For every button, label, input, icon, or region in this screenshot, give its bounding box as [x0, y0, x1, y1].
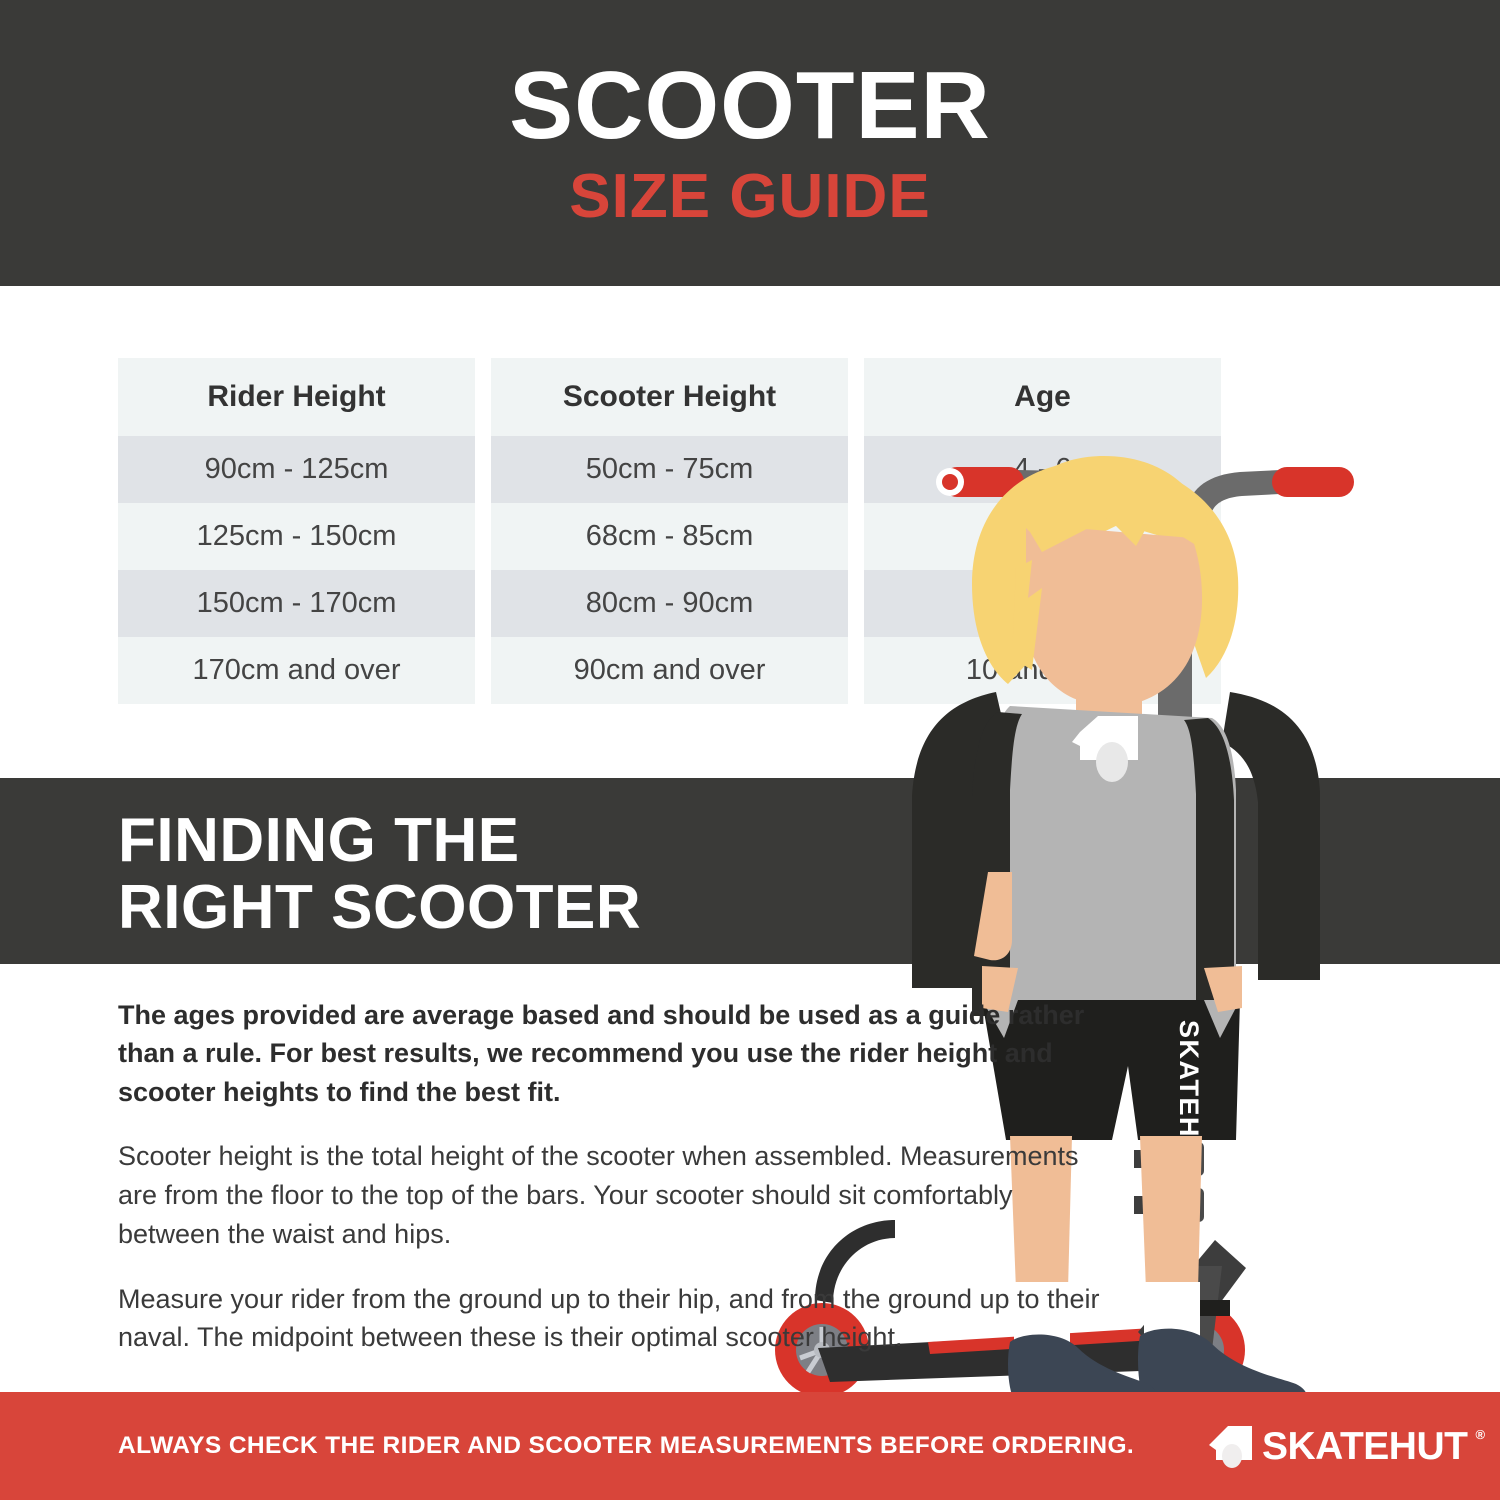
logo-wordmark: SKATEHUT	[1262, 1427, 1467, 1466]
hut-icon	[1208, 1424, 1254, 1468]
footer-band: ALWAYS CHECK THE RIDER AND SCOOTER MEASU…	[0, 1392, 1500, 1500]
table-cell: 90cm - 125cm	[118, 436, 475, 503]
header-band: SCOOTER SIZE GUIDE	[0, 0, 1500, 286]
paragraph-height: Scooter height is the total height of th…	[118, 1137, 1118, 1254]
rider-right-leg	[1140, 1136, 1202, 1290]
table-cell: 170cm and over	[118, 637, 475, 704]
paragraph-intro: The ages provided are average based and …	[118, 996, 1118, 1111]
body-copy: The ages provided are average based and …	[118, 996, 1118, 1357]
scooter-grip-right	[1272, 467, 1354, 497]
scooter-bar-end-inner	[942, 474, 958, 490]
table-cell: 150cm - 170cm	[118, 570, 475, 637]
table-column-rider-height: Rider Height 90cm - 125cm 125cm - 150cm …	[118, 358, 475, 708]
page-subtitle: SIZE GUIDE	[569, 166, 930, 228]
rider-jacket-right-sleeve	[1222, 692, 1320, 980]
paragraph-measure: Measure your rider from the ground up to…	[118, 1280, 1118, 1358]
table-cell: 125cm - 150cm	[118, 503, 475, 570]
footer-message: ALWAYS CHECK THE RIDER AND SCOOTER MEASU…	[118, 1432, 1134, 1460]
page-title: SCOOTER	[509, 58, 991, 154]
column-header-rider-height: Rider Height	[118, 358, 475, 436]
skatehut-logo[interactable]: SKATEHUT ®	[1208, 1424, 1485, 1468]
section-heading: FINDING THE RIGHT SCOOTER	[118, 808, 641, 942]
registered-mark: ®	[1475, 1427, 1485, 1442]
tshirt-hut-dot	[1096, 742, 1128, 782]
